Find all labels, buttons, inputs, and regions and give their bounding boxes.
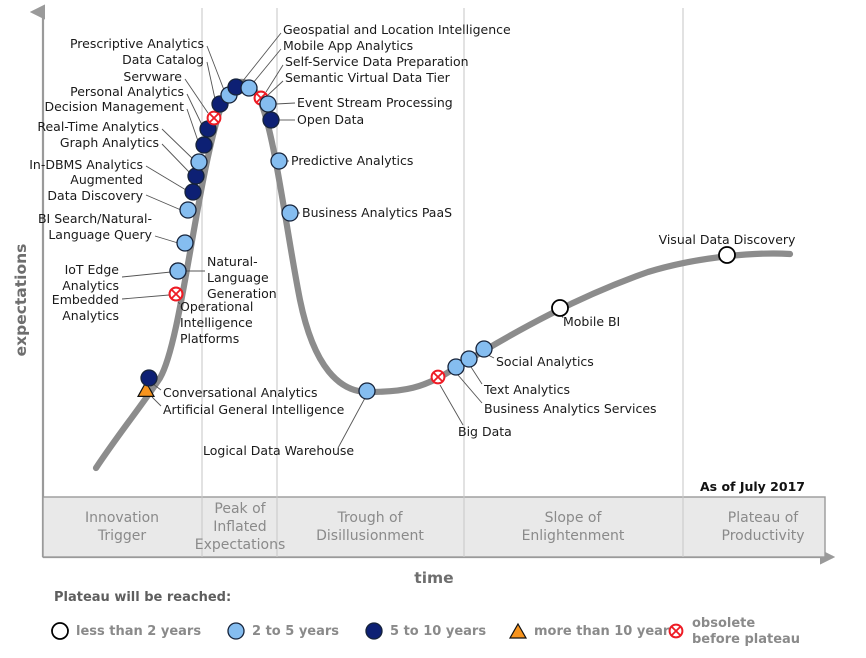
circle-icon[interactable]: [188, 168, 204, 184]
leader-line-15: [207, 46, 224, 90]
point-label-bi-search-natural-language-query: BI Search/Natural-Language Query: [38, 211, 153, 242]
point-label-business-analytics-paas: Business Analytics PaaS: [302, 205, 452, 220]
leader-line-16: [242, 33, 281, 82]
leader-line-27: [471, 367, 482, 384]
marker-business-analytics-paas[interactable]: [282, 205, 298, 221]
leader-line-3: [122, 272, 171, 277]
marker-text-analytics[interactable]: [461, 351, 477, 367]
point-label-business-analytics-services: Business Analytics Services: [484, 401, 657, 416]
point-label-artificial-general-intelligence: Artificial General Intelligence: [163, 402, 345, 417]
circle-icon[interactable]: [719, 247, 735, 263]
marker-social-analytics[interactable]: [476, 341, 492, 357]
circle-icon[interactable]: [282, 205, 298, 221]
point-label-graph-analytics: Graph Analytics: [60, 135, 159, 150]
marker-visual-data-discovery[interactable]: [719, 247, 735, 263]
legend-item-less-than-2-years[interactable]: less than 2 years: [52, 623, 201, 639]
point-label-logical-data-warehouse: Logical Data Warehouse: [203, 443, 354, 458]
circle-icon[interactable]: [461, 351, 477, 367]
leader-line-7: [146, 195, 181, 210]
hype-cycle-svg: Artificial General IntelligenceConversat…: [0, 0, 866, 658]
point-label-data-catalog: Data Catalog: [122, 52, 204, 67]
marker-augmented-data-discovery[interactable]: [180, 202, 196, 218]
point-label-semantic-virtual-data-tier: Semantic Virtual Data Tier: [285, 70, 451, 85]
circle-icon[interactable]: [170, 263, 186, 279]
point-label-predictive-analytics: Predictive Analytics: [291, 153, 413, 168]
marker-predictive-analytics[interactable]: [271, 153, 287, 169]
marker-open-data[interactable]: [263, 112, 279, 128]
leader-line-6: [155, 236, 178, 243]
legend-label-less-than-2-years: less than 2 years: [76, 624, 201, 639]
hype-cycle-chart: Artificial General IntelligenceConversat…: [0, 0, 866, 658]
point-label-operational-intelligence-platforms: OperationalIntelligencePlatforms: [180, 299, 253, 346]
leader-line-19: [268, 81, 283, 95]
circle-icon[interactable]: [177, 235, 193, 251]
circle-icon: [366, 623, 382, 639]
data-point-markers[interactable]: [138, 79, 735, 399]
point-label-real-time-analytics: Real-Time Analytics: [37, 119, 159, 134]
point-label-mobile-app-analytics: Mobile App Analytics: [283, 38, 413, 53]
circle-icon[interactable]: [271, 153, 287, 169]
circle-icon: [52, 623, 68, 639]
point-label-servware: Servware: [123, 69, 182, 84]
point-label-in-dbms-analytics: In-DBMS Analytics: [29, 157, 143, 172]
marker-real-time-analytics[interactable]: [191, 154, 207, 170]
legend-label-more-than-10-years: more than 10 years: [534, 624, 677, 639]
leader-line-0: [152, 397, 161, 406]
marker-in-dbms-analytics[interactable]: [185, 184, 201, 200]
chart-legend: Plateau will be reached:less than 2 year…: [52, 590, 800, 647]
leader-line-14: [207, 62, 215, 99]
point-label-social-analytics: Social Analytics: [496, 354, 594, 369]
point-label-visual-data-discovery: Visual Data Discovery: [659, 232, 796, 247]
circle-icon[interactable]: [185, 184, 201, 200]
legend-item-2-to-5-years[interactable]: 2 to 5 years: [228, 623, 339, 639]
legend-label-obsolete-before-plateau: obsoletebefore plateau: [692, 616, 800, 647]
circle-icon[interactable]: [476, 341, 492, 357]
legend-label-5-to-10-years: 5 to 10 years: [390, 624, 486, 639]
circle-icon[interactable]: [260, 96, 276, 112]
leader-line-25: [440, 385, 463, 425]
leader-line-8: [146, 166, 186, 190]
x-axis-title: time: [414, 569, 453, 587]
leader-line-12: [187, 94, 202, 125]
as-of-date: As of July 2017: [700, 479, 805, 494]
marker-decision-management[interactable]: [196, 137, 212, 153]
circle-icon[interactable]: [196, 137, 212, 153]
point-label-augmented-data-discovery: AugmentedData Discovery: [47, 172, 143, 203]
circle-icon[interactable]: [241, 80, 257, 96]
y-axis-title: expectations: [12, 244, 30, 357]
point-label-mobile-bi: Mobile BI: [563, 314, 620, 329]
marker-logical-data-warehouse[interactable]: [359, 383, 375, 399]
leader-line-2: [122, 295, 169, 299]
leader-line-20: [276, 103, 295, 104]
point-label-self-service-data-preparation: Self-Service Data Preparation: [285, 54, 469, 69]
point-label-embedded-analytics: EmbeddedAnalytics: [52, 292, 119, 323]
marker-conversational-analytics[interactable]: [141, 370, 157, 386]
point-label-decision-management: Decision Management: [44, 99, 184, 114]
marker-mobile-app-analytics[interactable]: [241, 80, 257, 96]
point-label-text-analytics: Text Analytics: [483, 382, 570, 397]
marker-servware[interactable]: [208, 112, 221, 125]
marker-event-stream-processing[interactable]: [260, 96, 276, 112]
circle-icon[interactable]: [263, 112, 279, 128]
phase-band: [43, 497, 825, 557]
point-label-natural-language-generation: Natural-LanguageGeneration: [207, 254, 277, 301]
marker-graph-analytics[interactable]: [188, 168, 204, 184]
legend-item-obsolete-before-plateau[interactable]: obsoletebefore plateau: [670, 616, 800, 647]
legend-title: Plateau will be reached:: [54, 590, 231, 605]
triangle-icon: [510, 624, 526, 638]
point-label-iot-edge-analytics: IoT EdgeAnalytics: [62, 262, 119, 293]
legend-item-5-to-10-years[interactable]: 5 to 10 years: [366, 623, 486, 639]
leader-line-18: [266, 65, 283, 92]
circle-icon[interactable]: [359, 383, 375, 399]
leader-line-9: [162, 144, 190, 173]
marker-bi-search-natural-language-query[interactable]: [177, 235, 193, 251]
point-label-event-stream-processing: Event Stream Processing: [297, 95, 453, 110]
circle-icon: [228, 623, 244, 639]
point-label-conversational-analytics: Conversational Analytics: [163, 385, 318, 400]
point-label-prescriptive-analytics: Prescriptive Analytics: [70, 36, 204, 51]
circle-icon[interactable]: [180, 202, 196, 218]
marker-natural-language-generation[interactable]: [170, 263, 186, 279]
point-label-open-data: Open Data: [297, 112, 364, 127]
point-label-personal-analytics: Personal Analytics: [70, 84, 184, 99]
circle-icon[interactable]: [191, 154, 207, 170]
marker-big-data[interactable]: [432, 371, 445, 384]
legend-item-more-than-10-years[interactable]: more than 10 years: [510, 624, 677, 639]
point-label-geospatial-and-location-intelligence: Geospatial and Location Intelligence: [283, 22, 511, 37]
point-label-big-data: Big Data: [458, 424, 512, 439]
leader-line-10: [162, 129, 193, 159]
legend-label-2-to-5-years: 2 to 5 years: [252, 624, 339, 639]
circle-icon[interactable]: [141, 370, 157, 386]
